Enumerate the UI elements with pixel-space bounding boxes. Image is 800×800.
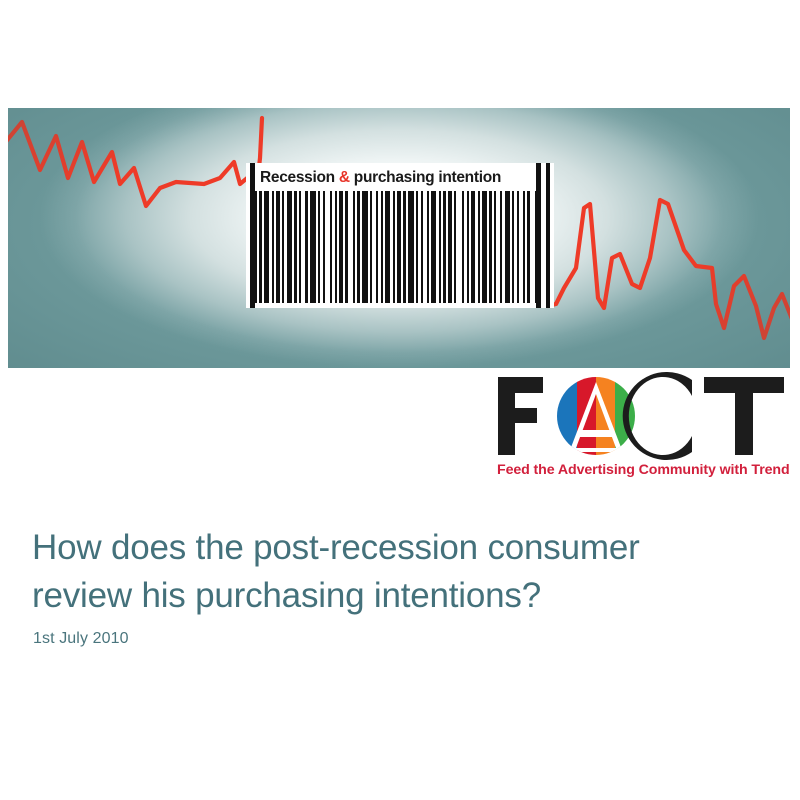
trend-line-left [8, 118, 262, 206]
barcode-title-text: Recession & purchasing intention [260, 166, 542, 190]
slide-date: 1st July 2010 [33, 630, 129, 648]
slide-title-line-2: review his purchasing intentions? [32, 572, 752, 620]
fact-logo: Feed the Advertising Community with Tren… [492, 372, 790, 480]
barcode-title-suffix: purchasing intention [350, 169, 501, 186]
logo-tagline: Feed the Advertising Community with Tren… [497, 462, 790, 478]
slide-title-line-1: How does the post-recession consumer [32, 524, 752, 572]
logo-letter-t-shape [704, 377, 784, 455]
slide-canvas: Recession & purchasing intention [0, 0, 800, 800]
logo-letter-f-shape [498, 377, 543, 455]
barcode-space [537, 191, 539, 303]
barcode-graphic: Recession & purchasing intention [246, 163, 554, 308]
trend-line-right [548, 200, 790, 338]
hero-banner-image: Recession & purchasing intention [8, 108, 790, 368]
barcode-title-ampersand: & [339, 169, 350, 186]
barcode-title-prefix: Recession [260, 169, 339, 186]
slide-title: How does the post-recession consumer rev… [32, 524, 752, 619]
fact-logo-svg: Feed the Advertising Community with Tren… [492, 372, 790, 480]
barcode-bars [252, 191, 548, 303]
